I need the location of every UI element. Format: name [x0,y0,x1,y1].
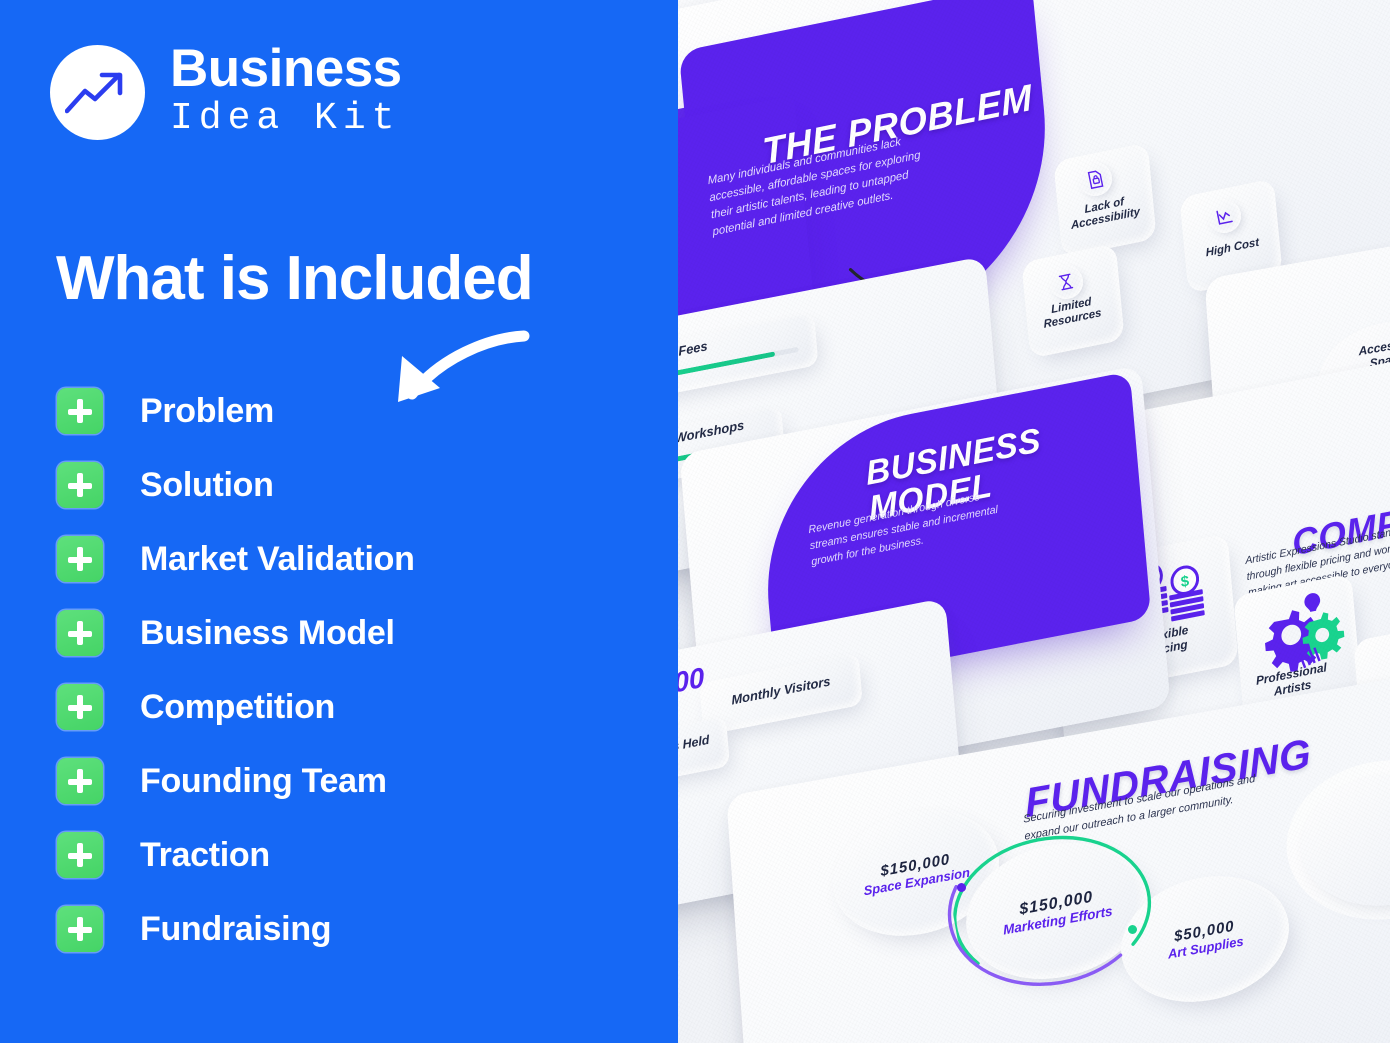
fundraising-node-green [1128,925,1137,934]
list-item-label: Traction [140,836,270,875]
plus-icon [57,610,103,656]
list-item[interactable]: Business Model [57,610,415,656]
included-items-list: Problem Solution Market Validation Busin… [57,388,415,980]
list-item-label: Competition [140,688,335,727]
list-item-label: Solution [140,466,274,505]
list-item[interactable]: Competition [57,684,415,730]
brand-name-line1: Business [170,44,402,94]
list-item[interactable]: Fundraising [57,906,415,952]
fundraising-node-purple [957,883,966,892]
plus-icon [57,684,103,730]
plus-icon [57,906,103,952]
page-title: What is Included [56,248,533,310]
plus-icon [57,536,103,582]
poster-canvas: THE PROBLEM Many individuals and communi… [0,0,1390,1043]
list-item-label: Business Model [140,614,395,653]
fundraising-arc-purple [924,827,1177,1043]
left-info-panel: Business Idea Kit What is Included Probl… [0,0,678,1043]
list-item-label: Market Validation [140,540,415,579]
hourglass-icon [1055,271,1076,292]
list-item-label: Problem [140,392,274,431]
plus-icon [57,758,103,804]
plus-icon [57,388,103,434]
list-item-label: Founding Team [140,762,387,801]
declining-chart-icon [1213,205,1235,227]
list-item[interactable]: Founding Team [57,758,415,804]
list-item[interactable]: Traction [57,832,415,878]
list-item[interactable]: Solution [57,462,415,508]
growth-chart-arrow-icon [65,67,131,119]
list-item[interactable]: Problem [57,388,415,434]
list-item-label: Fundraising [140,910,331,949]
plus-icon [57,462,103,508]
brand-name-line2: Idea Kit [170,96,402,142]
plus-icon [57,832,103,878]
brand-logo: Business Idea Kit [50,44,402,142]
brand-wordmark: Business Idea Kit [170,44,402,142]
list-item[interactable]: Market Validation [57,536,415,582]
locked-document-icon [1084,168,1106,190]
logo-mark [50,45,145,140]
